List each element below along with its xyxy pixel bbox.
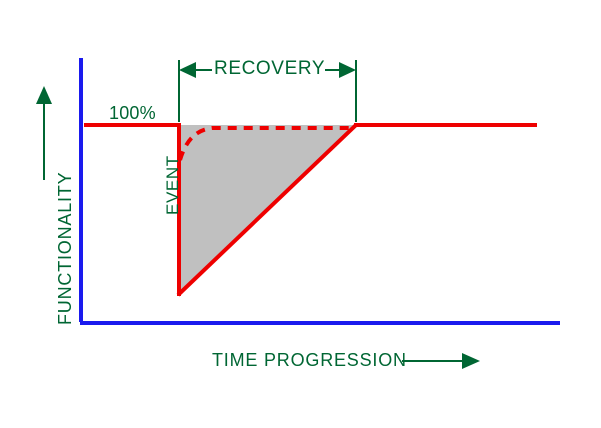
recovery-span-label: RECOVERY	[214, 58, 325, 80]
x-axis-arrow-head-icon	[462, 353, 480, 369]
diagram-canvas: 100% RECOVERY EVENT TIME PROGRESSION FUN…	[0, 0, 601, 428]
baseline-value-label: 100%	[109, 103, 156, 124]
y-axis-label: FUNCTIONALITY	[55, 172, 76, 325]
event-label: EVENT	[163, 155, 183, 215]
recovery-left-arrow-head	[179, 62, 196, 78]
y-axis-arrow-head-icon	[36, 86, 52, 104]
recovery-right-arrow-head	[339, 62, 356, 78]
x-axis-label: TIME PROGRESSION	[212, 350, 407, 371]
